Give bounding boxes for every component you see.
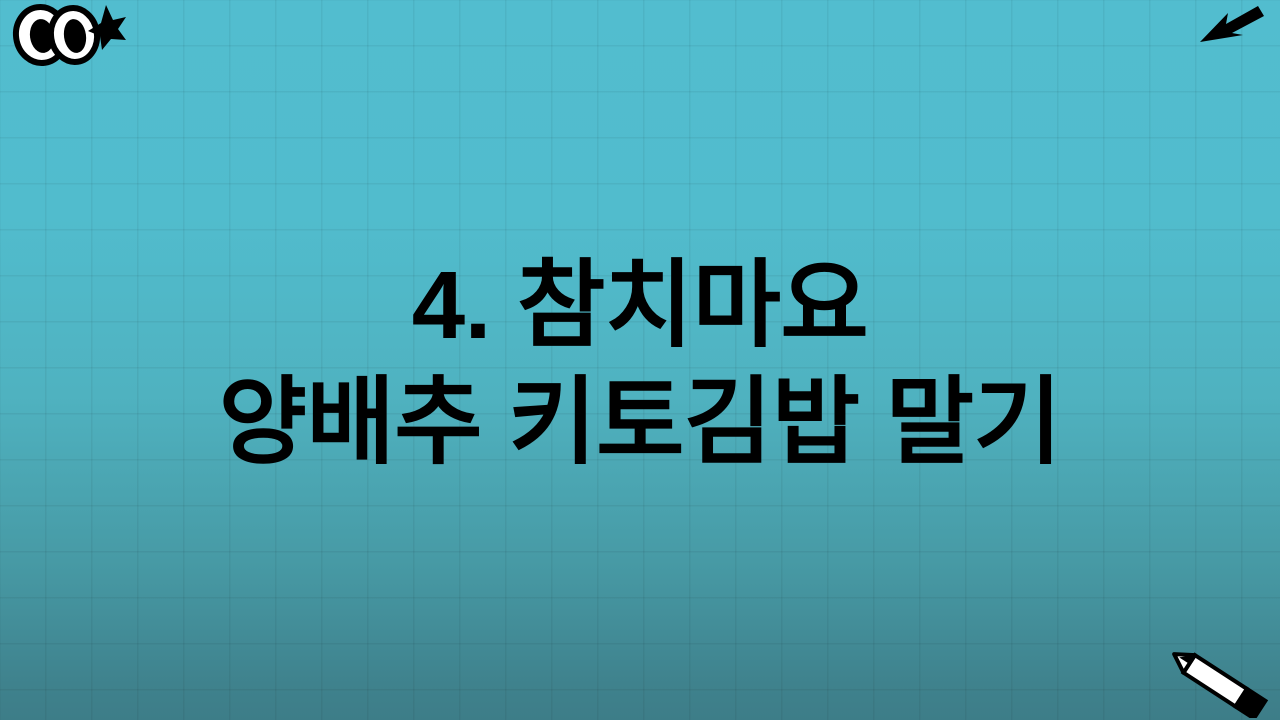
page-title: 4. 참치마요 양배추 키토김밥 말기: [0, 0, 1280, 720]
title-line-1: 4. 참치마요: [412, 247, 869, 364]
slide-canvas: 4. 참치마요 양배추 키토김밥 말기: [0, 0, 1280, 720]
title-line-2: 양배추 키토김밥 말기: [219, 364, 1062, 481]
